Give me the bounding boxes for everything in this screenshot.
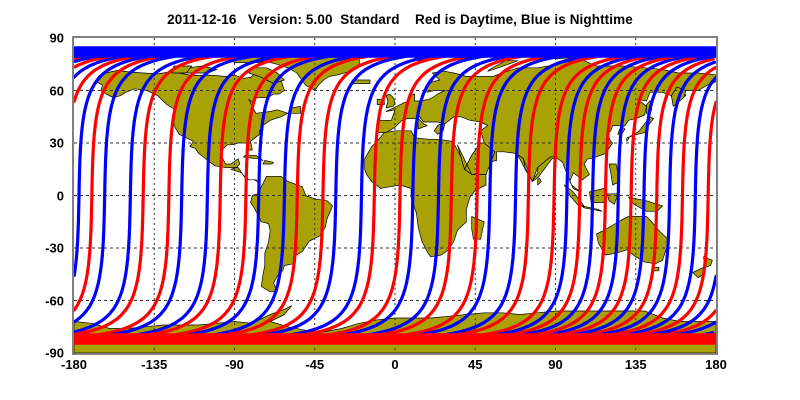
- y-tick-label: -90: [0, 347, 64, 360]
- x-tick-label: 180: [705, 358, 727, 371]
- x-tick-label: 90: [548, 358, 562, 371]
- y-tick-label: 30: [0, 137, 64, 150]
- y-tick-label: -30: [0, 242, 64, 255]
- y-tick-label: 0: [0, 189, 64, 202]
- x-tick-label: -45: [305, 358, 324, 371]
- ground-track-plot: [74, 38, 716, 353]
- x-tick-label: 0: [391, 358, 398, 371]
- y-tick-label: 60: [0, 84, 64, 97]
- x-tick-label: -90: [225, 358, 244, 371]
- x-tick-label: -180: [61, 358, 87, 371]
- x-tick-label: 45: [468, 358, 482, 371]
- y-tick-label: -60: [0, 294, 64, 307]
- x-tick-label: 135: [625, 358, 647, 371]
- chart-title: 2011-12-16 Version: 5.00 Standard Red is…: [0, 12, 800, 27]
- y-tick-label: 90: [0, 32, 64, 45]
- x-tick-label: -135: [141, 358, 167, 371]
- chart-root: 2011-12-16 Version: 5.00 Standard Red is…: [0, 0, 800, 400]
- plot-area: [72, 36, 718, 355]
